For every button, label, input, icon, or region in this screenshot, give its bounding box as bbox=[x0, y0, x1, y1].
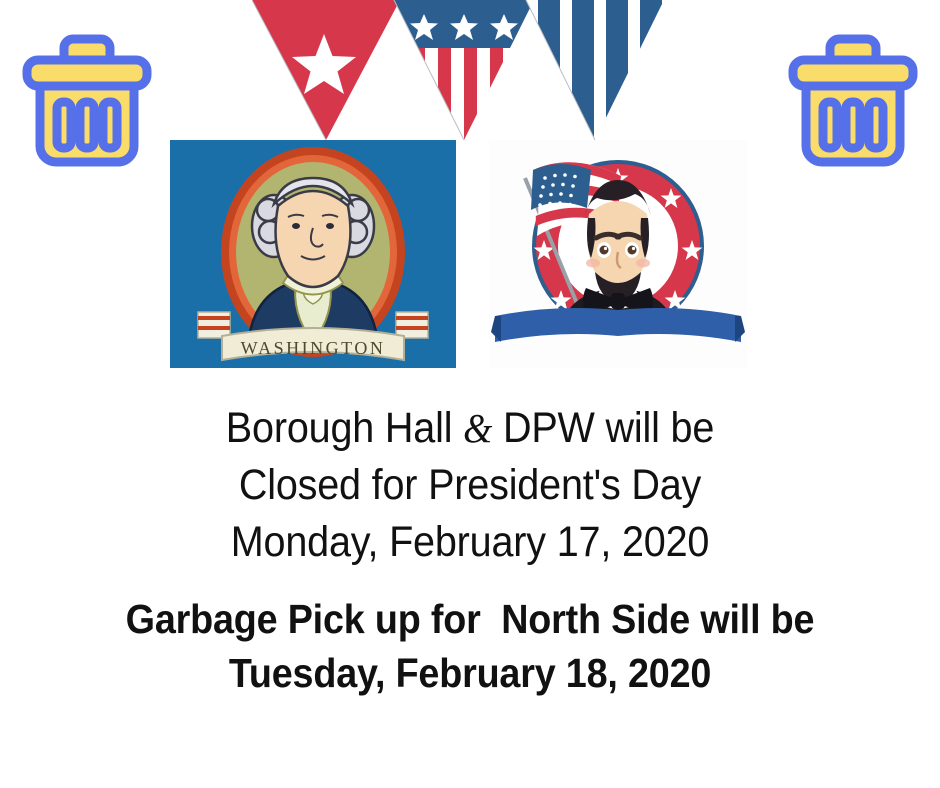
stars-and-stripes-pennant bbox=[394, 0, 536, 140]
closure-line-1: Borough Hall & DPW will be bbox=[38, 400, 903, 457]
closure-line-1-suffix: DPW will be bbox=[492, 404, 714, 452]
closure-line-3: Monday, February 17, 2020 bbox=[38, 514, 903, 571]
garbage-line-2: Tuesday, February 18, 2020 bbox=[38, 646, 903, 700]
red-star-pennant bbox=[252, 0, 400, 140]
george-washington-portrait: WASHINGTON bbox=[170, 140, 456, 368]
closure-line-1-prefix: Borough Hall bbox=[226, 404, 463, 452]
washington-banner-text: WASHINGTON bbox=[241, 338, 386, 358]
trash-can-icon-left bbox=[14, 22, 160, 172]
ampersand-glyph: & bbox=[463, 406, 492, 451]
garbage-line-1: Garbage Pick up for North Side will be bbox=[38, 592, 903, 646]
blue-striped-pennant bbox=[526, 0, 664, 140]
closure-announcement: Borough Hall & DPW will be Closed for Pr… bbox=[0, 400, 940, 571]
patriotic-bunting-icon bbox=[252, 0, 664, 140]
trash-can-icon-right bbox=[780, 22, 926, 172]
abraham-lincoln-portrait bbox=[489, 140, 747, 368]
closure-line-2: Closed for President's Day bbox=[38, 457, 903, 514]
garbage-pickup-announcement: Garbage Pick up for North Side will be T… bbox=[0, 592, 940, 700]
president-day-closure-flyer: WASHINGTON bbox=[0, 0, 940, 788]
